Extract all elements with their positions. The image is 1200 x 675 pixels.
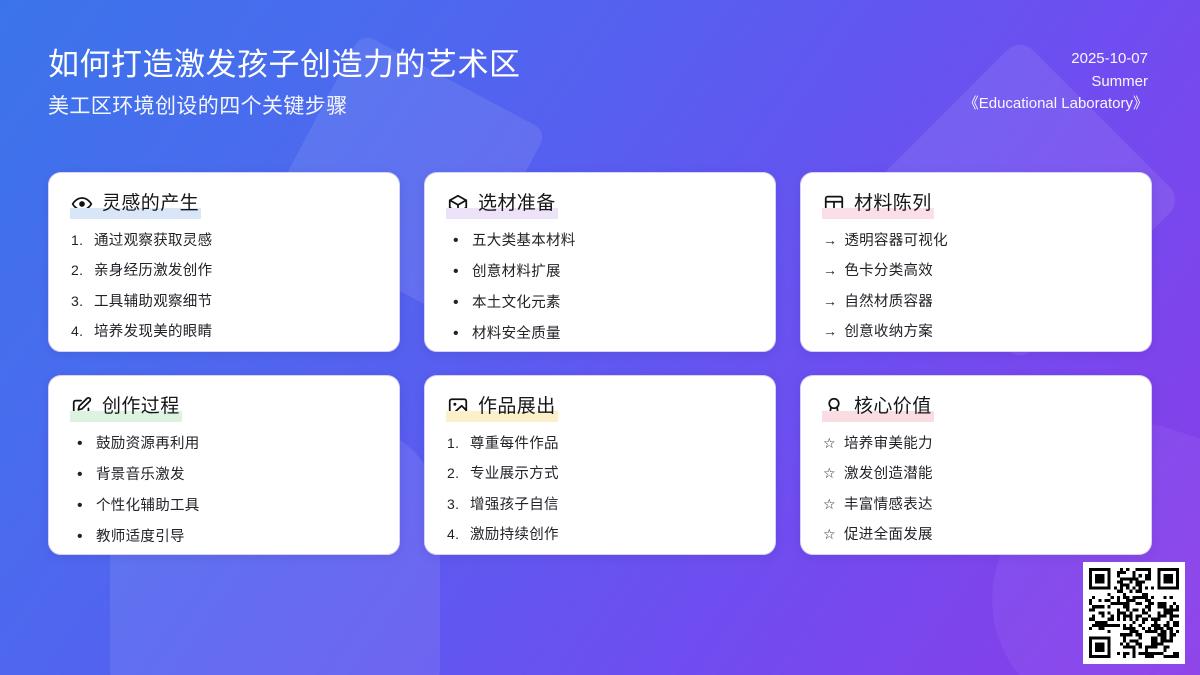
list-item-marker: • bbox=[447, 233, 465, 249]
card-title-text: 选材准备 bbox=[478, 193, 556, 214]
list-item-label: 个性化辅助工具 bbox=[96, 499, 377, 514]
list-item: 2.专业展示方式 bbox=[447, 459, 753, 490]
card-title-text: 灵感的产生 bbox=[102, 193, 199, 214]
card-list: •五大类基本材料•创意材料扩展•本土文化元素•材料安全质量 bbox=[447, 225, 753, 349]
list-item-marker: • bbox=[71, 529, 89, 545]
list-item-label: 创意收纳方案 bbox=[844, 325, 1129, 340]
list-item-marker: • bbox=[447, 295, 465, 311]
list-item: 2.亲身经历激发创作 bbox=[71, 256, 377, 287]
qr-code[interactable] bbox=[1083, 562, 1185, 664]
list-item: •五大类基本材料 bbox=[447, 225, 753, 256]
list-item-label: 五大类基本材料 bbox=[472, 234, 753, 249]
list-item-label: 通过观察获取灵感 bbox=[94, 234, 377, 249]
list-item: 1.尊重每件作品 bbox=[447, 428, 753, 459]
page-subtitle: 美工区环境创设的四个关键步骤 bbox=[48, 94, 521, 120]
card-header: 选材准备 bbox=[447, 193, 753, 215]
list-item-marker: ☆ bbox=[823, 497, 837, 511]
card-1: 灵感的产生1.通过观察获取灵感2.亲身经历激发创作3.工具辅助观察细节4.培养发… bbox=[48, 172, 400, 352]
list-item: •个性化辅助工具 bbox=[71, 490, 377, 521]
card-list: 1.通过观察获取灵感2.亲身经历激发创作3.工具辅助观察细节4.培养发现美的眼睛 bbox=[71, 225, 377, 347]
list-item: •创意材料扩展 bbox=[447, 256, 753, 287]
list-item-label: 背景音乐激发 bbox=[96, 468, 377, 483]
list-item-label: 鼓励资源再利用 bbox=[96, 437, 377, 452]
list-item: 3.工具辅助观察细节 bbox=[71, 286, 377, 317]
qr-code-image bbox=[1089, 568, 1179, 658]
list-item-marker: → bbox=[823, 324, 837, 338]
card-6: 核心价值☆培养审美能力☆激发创造潜能☆丰富情感表达☆促进全面发展 bbox=[800, 375, 1152, 555]
card-title: 灵感的产生 bbox=[102, 194, 199, 214]
list-item: ☆激发创造潜能 bbox=[823, 459, 1129, 490]
meta-season: Summer bbox=[964, 71, 1148, 94]
card-header: 创作过程 bbox=[71, 396, 377, 418]
list-item: •背景音乐激发 bbox=[71, 459, 377, 490]
list-item: •教师适度引导 bbox=[71, 521, 377, 552]
list-item-marker: • bbox=[71, 498, 89, 514]
list-item-label: 亲身经历激发创作 bbox=[94, 264, 377, 279]
list-item-marker: 3. bbox=[447, 497, 463, 511]
card-4: 创作过程•鼓励资源再利用•背景音乐激发•个性化辅助工具•教师适度引导 bbox=[48, 375, 400, 555]
list-item-label: 自然材质容器 bbox=[844, 295, 1129, 310]
card-3: 材料陈列→透明容器可视化→色卡分类高效→自然材质容器→创意收纳方案 bbox=[800, 172, 1152, 352]
card-title-text: 创作过程 bbox=[102, 396, 180, 417]
card-header: 核心价值 bbox=[823, 396, 1129, 418]
list-item-marker: • bbox=[71, 436, 89, 452]
list-item-marker: ☆ bbox=[823, 466, 837, 480]
list-item-marker: → bbox=[823, 233, 837, 247]
meta-block: 2025-10-07 Summer 《Educational Laborator… bbox=[964, 42, 1148, 116]
meta-source: 《Educational Laboratory》 bbox=[964, 93, 1148, 116]
list-item: •鼓励资源再利用 bbox=[71, 428, 377, 459]
list-item-label: 创意材料扩展 bbox=[472, 265, 753, 280]
card-title: 作品展出 bbox=[478, 397, 556, 417]
card-2: 选材准备•五大类基本材料•创意材料扩展•本土文化元素•材料安全质量 bbox=[424, 172, 776, 352]
list-item-marker: → bbox=[823, 294, 837, 308]
list-item: 3.增强孩子自信 bbox=[447, 489, 753, 520]
list-item: ☆培养审美能力 bbox=[823, 428, 1129, 459]
list-item-label: 促进全面发展 bbox=[844, 528, 1129, 543]
list-item-label: 专业展示方式 bbox=[470, 467, 753, 482]
list-item-label: 尊重每件作品 bbox=[470, 437, 753, 452]
card-title: 选材准备 bbox=[478, 194, 556, 214]
list-item-label: 培养发现美的眼睛 bbox=[94, 325, 377, 340]
title-block: 如何打造激发孩子创造力的艺术区 美工区环境创设的四个关键步骤 bbox=[48, 42, 521, 120]
list-item-marker: 4. bbox=[447, 527, 463, 541]
list-item-marker: • bbox=[71, 467, 89, 483]
meta-date: 2025-10-07 bbox=[964, 48, 1148, 71]
list-item-marker: 1. bbox=[447, 436, 463, 450]
list-item-label: 激励持续创作 bbox=[470, 528, 753, 543]
page-title: 如何打造激发孩子创造力的艺术区 bbox=[48, 46, 521, 85]
list-item-marker: • bbox=[447, 264, 465, 280]
card-header: 作品展出 bbox=[447, 396, 753, 418]
list-item-label: 教师适度引导 bbox=[96, 530, 377, 545]
list-item: •材料安全质量 bbox=[447, 318, 753, 349]
card-list: ☆培养审美能力☆激发创造潜能☆丰富情感表达☆促进全面发展 bbox=[823, 428, 1129, 550]
list-item-label: 色卡分类高效 bbox=[844, 264, 1129, 279]
list-item-marker: → bbox=[823, 263, 837, 277]
list-item-marker: ☆ bbox=[823, 436, 837, 450]
card-title-text: 作品展出 bbox=[478, 396, 556, 417]
list-item: 1.通过观察获取灵感 bbox=[71, 225, 377, 256]
card-grid: 灵感的产生1.通过观察获取灵感2.亲身经历激发创作3.工具辅助观察细节4.培养发… bbox=[48, 172, 1152, 555]
list-item-label: 本土文化元素 bbox=[472, 296, 753, 311]
card-header: 灵感的产生 bbox=[71, 193, 377, 215]
list-item-label: 透明容器可视化 bbox=[844, 234, 1129, 249]
list-item-label: 培养审美能力 bbox=[844, 437, 1129, 452]
card-5: 作品展出1.尊重每件作品2.专业展示方式3.增强孩子自信4.激励持续创作 bbox=[424, 375, 776, 555]
list-item: →自然材质容器 bbox=[823, 286, 1129, 317]
list-item-marker: 4. bbox=[71, 324, 87, 338]
list-item: 4.激励持续创作 bbox=[447, 520, 753, 551]
list-item-label: 激发创造潜能 bbox=[844, 467, 1129, 482]
list-item-label: 材料安全质量 bbox=[472, 327, 753, 342]
list-item-marker: 2. bbox=[447, 466, 463, 480]
card-title: 核心价值 bbox=[854, 397, 932, 417]
card-header: 材料陈列 bbox=[823, 193, 1129, 215]
list-item-label: 增强孩子自信 bbox=[470, 498, 753, 513]
card-title: 材料陈列 bbox=[854, 194, 932, 214]
card-title: 创作过程 bbox=[102, 397, 180, 417]
slide-root: 如何打造激发孩子创造力的艺术区 美工区环境创设的四个关键步骤 2025-10-0… bbox=[0, 0, 1200, 675]
card-list: •鼓励资源再利用•背景音乐激发•个性化辅助工具•教师适度引导 bbox=[71, 428, 377, 552]
list-item-label: 工具辅助观察细节 bbox=[94, 295, 377, 310]
list-item-marker: ☆ bbox=[823, 527, 837, 541]
list-item: ☆丰富情感表达 bbox=[823, 489, 1129, 520]
list-item: →色卡分类高效 bbox=[823, 256, 1129, 287]
card-title-text: 核心价值 bbox=[854, 396, 932, 417]
list-item-marker: 3. bbox=[71, 294, 87, 308]
slide-header: 如何打造激发孩子创造力的艺术区 美工区环境创设的四个关键步骤 2025-10-0… bbox=[0, 0, 1200, 150]
list-item-marker: 1. bbox=[71, 233, 87, 247]
list-item: →创意收纳方案 bbox=[823, 317, 1129, 348]
card-title-text: 材料陈列 bbox=[854, 193, 932, 214]
list-item: ☆促进全面发展 bbox=[823, 520, 1129, 551]
list-item-marker: • bbox=[447, 326, 465, 342]
card-list: 1.尊重每件作品2.专业展示方式3.增强孩子自信4.激励持续创作 bbox=[447, 428, 753, 550]
list-item: •本土文化元素 bbox=[447, 287, 753, 318]
list-item-label: 丰富情感表达 bbox=[844, 498, 1129, 513]
card-list: →透明容器可视化→色卡分类高效→自然材质容器→创意收纳方案 bbox=[823, 225, 1129, 347]
list-item: →透明容器可视化 bbox=[823, 225, 1129, 256]
list-item: 4.培养发现美的眼睛 bbox=[71, 317, 377, 348]
list-item-marker: 2. bbox=[71, 263, 87, 277]
